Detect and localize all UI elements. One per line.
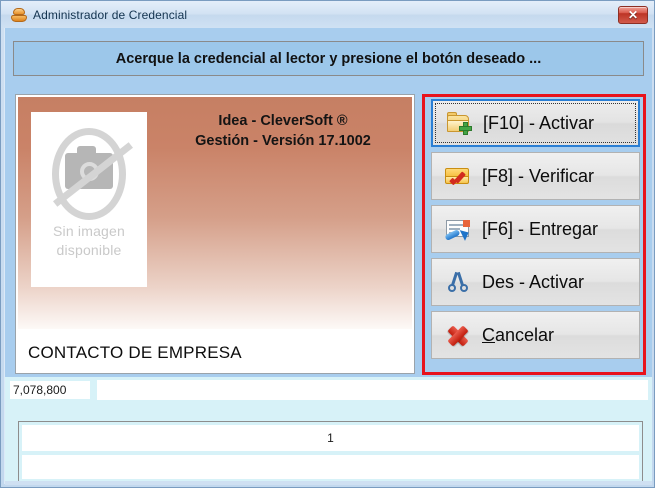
card-brand-line-2: Gestión - Versión 17.1002 [158, 131, 408, 151]
status-strip [5, 481, 652, 485]
application-window: Administrador de Credencial ✕ Acerque la… [0, 0, 655, 488]
action-buttons-stack: [F10] - Activar [F8] - Verificar [431, 99, 640, 359]
scissors-icon [445, 269, 471, 295]
card-brand-block: Idea - CleverSoft ® Gestión - Versión 17… [158, 111, 408, 151]
client-area: Acerque la credencial al lector y presio… [5, 28, 652, 485]
camera-crossed-icon [47, 126, 131, 222]
no-image-line-2: disponible [56, 241, 121, 260]
verificar-button-label: [F8] - Verificar [482, 166, 594, 187]
table-row[interactable]: 1 [22, 425, 639, 451]
cancelar-button-label: Cancelar [482, 325, 554, 346]
action-buttons-group: [F10] - Activar [F8] - Verificar [422, 94, 646, 375]
des-activar-button[interactable]: Des - Activar [431, 258, 640, 306]
wide-text-field[interactable] [97, 380, 648, 400]
entregar-button[interactable]: [F6] - Entregar [431, 205, 640, 253]
cancelar-button[interactable]: Cancelar [431, 311, 640, 359]
envelope-check-icon [445, 163, 471, 189]
close-button[interactable]: ✕ [618, 6, 648, 24]
card-brand-line-1: Idea - CleverSoft ® [158, 111, 408, 131]
instruction-banner: Acerque la credencial al lector y presio… [13, 41, 644, 76]
credential-card: Sin imagen disponible Idea - CleverSoft … [18, 97, 412, 329]
cancelar-accesskey: C [482, 325, 495, 345]
close-icon: ✕ [628, 9, 638, 21]
no-image-line-1: Sin imagen [53, 222, 125, 241]
activar-button[interactable]: [F10] - Activar [431, 99, 640, 147]
card-caption: CONTACTO DE EMPRESA [28, 343, 242, 363]
table-row[interactable] [22, 455, 639, 479]
bottom-area: 1 [5, 377, 652, 485]
title-bar[interactable]: Administrador de Credencial ✕ [1, 1, 655, 28]
app-icon [11, 7, 27, 23]
cancelar-rest: ancelar [495, 325, 554, 345]
instruction-text: Acerque la credencial al lector y presio… [116, 51, 541, 67]
credential-preview-panel: Sin imagen disponible Idea - CleverSoft … [15, 94, 415, 374]
entregar-button-label: [F6] - Entregar [482, 219, 598, 240]
mail-send-icon [445, 216, 471, 242]
results-grid: 1 [18, 421, 643, 483]
folder-add-icon [446, 110, 472, 136]
activar-button-label: [F10] - Activar [483, 113, 594, 134]
des-activar-button-label: Des - Activar [482, 272, 584, 293]
red-x-icon [445, 322, 471, 348]
no-image-placeholder: Sin imagen disponible [31, 112, 147, 287]
amount-field[interactable] [10, 381, 90, 399]
window-title: Administrador de Credencial [33, 8, 187, 22]
verificar-button[interactable]: [F8] - Verificar [431, 152, 640, 200]
